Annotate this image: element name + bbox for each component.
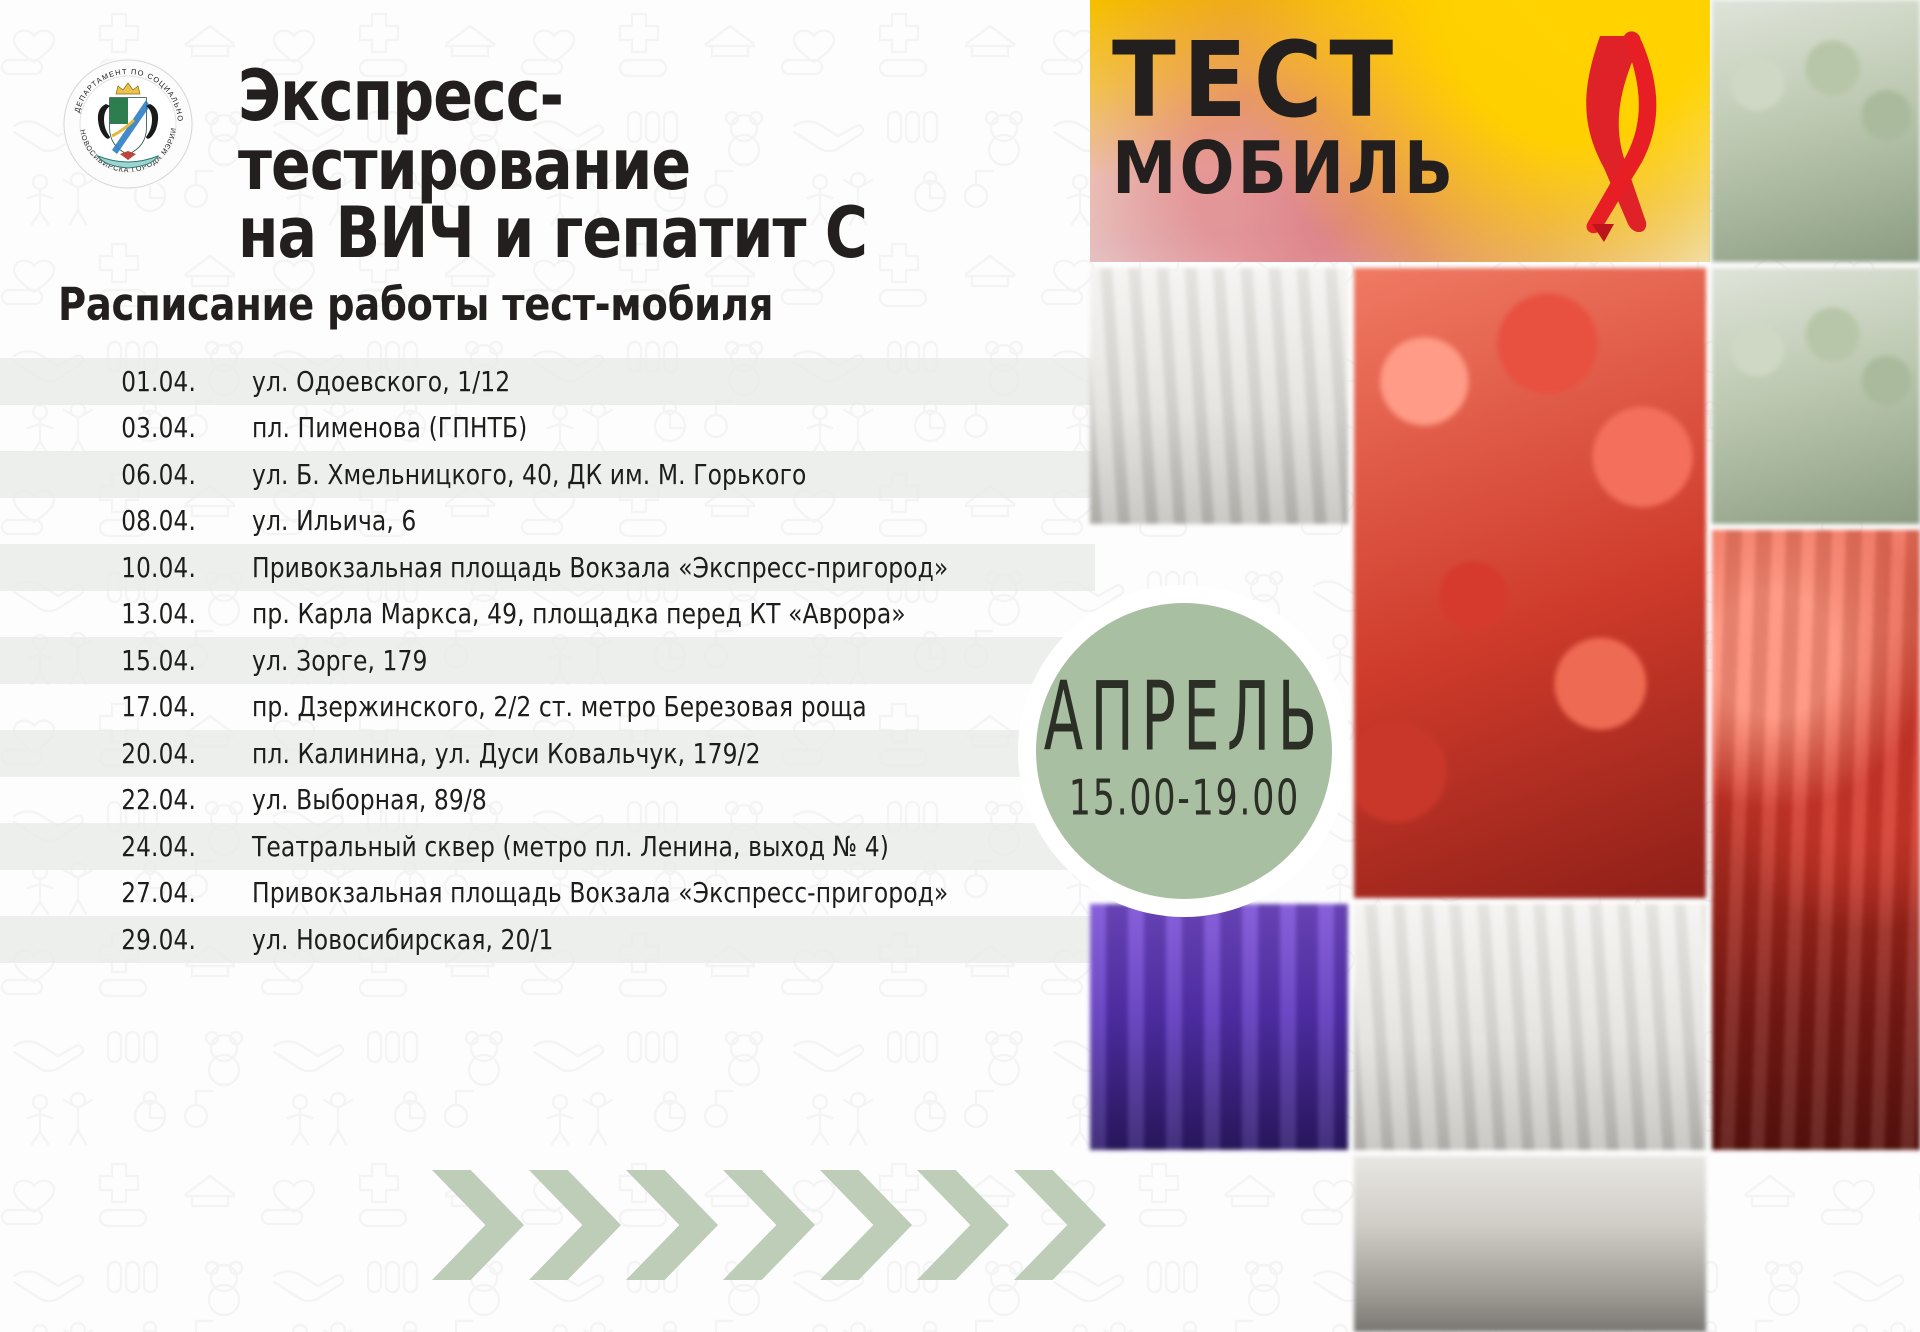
schedule-row: 15.04.ул. Зорге, 179 bbox=[0, 637, 1095, 684]
chevron-icon bbox=[432, 1170, 524, 1280]
title-line-1: Экспресс-тестирование bbox=[238, 55, 690, 206]
schedule-row: 01.04.ул. Одоевского, 1/12 bbox=[0, 358, 1095, 405]
schedule-place: ул. Одоевского, 1/12 bbox=[252, 365, 510, 398]
schedule-place: ул. Ильича, 6 bbox=[252, 504, 416, 537]
photo-tile-tubes-green bbox=[1712, 0, 1920, 262]
schedule-date: 17.04. bbox=[16, 690, 196, 723]
schedule-place: пр. Карла Маркса, 49, площадка перед КТ … bbox=[252, 597, 906, 630]
schedule-date: 10.04. bbox=[16, 551, 196, 584]
photo-tile-lab-white bbox=[1090, 268, 1348, 524]
test-mobile-logo-tile: ТЕСТ МОБИЛЬ bbox=[1090, 0, 1710, 262]
poster-root: ДЕПАРТАМЕНТ ПО СОЦИАЛЬНОЙ НОВОСИБИРСКА Г… bbox=[0, 0, 1920, 1332]
schedule-date: 22.04. bbox=[16, 783, 196, 816]
red-aids-ribbon-icon bbox=[1542, 28, 1692, 243]
photo-tile-blood-tubes-top bbox=[1354, 268, 1706, 898]
schedule-place: ул. Б. Хмельницкого, 40, ДК им. М. Горьк… bbox=[252, 458, 806, 491]
chevron-icon bbox=[529, 1170, 621, 1280]
photo-tile-blood-tubes-right bbox=[1712, 530, 1920, 1150]
schedule-place: Привокзальная площадь Вокзала «Экспресс-… bbox=[252, 876, 948, 909]
schedule-subtitle: Расписание работы тест-мобиля bbox=[58, 278, 773, 331]
schedule-place: пл. Калинина, ул. Дуси Ковальчук, 179/2 bbox=[252, 737, 761, 770]
schedule-row: 20.04.пл. Калинина, ул. Дуси Ковальчук, … bbox=[0, 730, 1095, 777]
emblem-svg: ДЕПАРТАМЕНТ ПО СОЦИАЛЬНОЙ НОВОСИБИРСКА Г… bbox=[62, 58, 194, 190]
schedule-date: 01.04. bbox=[16, 365, 196, 398]
photo-tile-corridor bbox=[1354, 1156, 1706, 1332]
chevron-icon bbox=[917, 1170, 1009, 1280]
schedule-date: 29.04. bbox=[16, 923, 196, 956]
schedule-row: 17.04.пр. Дзержинского, 2/2 ст. метро Бе… bbox=[0, 684, 1095, 731]
chevron-icon bbox=[820, 1170, 912, 1280]
page-title: Экспресс-тестирование на ВИЧ и гепатит С bbox=[238, 62, 945, 268]
month-badge: АПРЕЛЬ 15.00-19.00 bbox=[1018, 585, 1350, 917]
schedule-date: 03.04. bbox=[16, 411, 196, 444]
coat-of-arms-emblem: ДЕПАРТАМЕНТ ПО СОЦИАЛЬНОЙ НОВОСИБИРСКА Г… bbox=[62, 58, 194, 190]
title-line-2: на ВИЧ и гепатит С bbox=[238, 199, 945, 268]
chevron-decoration bbox=[432, 1170, 1112, 1280]
photo-tile-lab-shelf bbox=[1354, 904, 1706, 1150]
schedule-row: 22.04.ул. Выборная, 89/8 bbox=[0, 777, 1095, 824]
schedule-place: ул. Зорге, 179 bbox=[252, 644, 428, 677]
schedule-place: Привокзальная площадь Вокзала «Экспресс-… bbox=[252, 551, 948, 584]
schedule-date: 20.04. bbox=[16, 737, 196, 770]
schedule-place: пр. Дзержинского, 2/2 ст. метро Березова… bbox=[252, 690, 867, 723]
schedule-date: 06.04. bbox=[16, 458, 196, 491]
schedule-row: 08.04.ул. Ильича, 6 bbox=[0, 498, 1095, 545]
schedule-place: ул. Новосибирская, 20/1 bbox=[252, 923, 554, 956]
schedule-row: 03.04.пл. Пименова (ГПНТБ) bbox=[0, 405, 1095, 452]
month-label: АПРЕЛЬ bbox=[1044, 670, 1325, 765]
schedule-row: 13.04.пр. Карла Маркса, 49, площадка пер… bbox=[0, 591, 1095, 638]
time-label: 15.00-19.00 bbox=[1068, 769, 1299, 826]
photo-tile-tubes-green-2 bbox=[1712, 268, 1920, 524]
chevron-icon bbox=[626, 1170, 718, 1280]
left-column: ДЕПАРТАМЕНТ ПО СОЦИАЛЬНОЙ НОВОСИБИРСКА Г… bbox=[0, 0, 1090, 1332]
schedule-table: 01.04.ул. Одоевского, 1/1203.04.пл. Пиме… bbox=[0, 358, 1095, 963]
schedule-row: 06.04.ул. Б. Хмельницкого, 40, ДК им. М.… bbox=[0, 451, 1095, 498]
schedule-place: Театральный сквер (метро пл. Ленина, вых… bbox=[252, 830, 889, 863]
schedule-row: 10.04.Привокзальная площадь Вокзала «Экс… bbox=[0, 544, 1095, 591]
photo-tile-purple-lab bbox=[1090, 904, 1348, 1150]
schedule-date: 24.04. bbox=[16, 830, 196, 863]
schedule-date: 13.04. bbox=[16, 597, 196, 630]
schedule-place: ул. Выборная, 89/8 bbox=[252, 783, 487, 816]
schedule-row: 27.04.Привокзальная площадь Вокзала «Экс… bbox=[0, 870, 1095, 917]
schedule-row: 24.04.Театральный сквер (метро пл. Ленин… bbox=[0, 823, 1095, 870]
schedule-date: 27.04. bbox=[16, 876, 196, 909]
schedule-place: пл. Пименова (ГПНТБ) bbox=[252, 411, 527, 444]
schedule-date: 08.04. bbox=[16, 504, 196, 537]
schedule-row: 29.04.ул. Новосибирская, 20/1 bbox=[0, 916, 1095, 963]
schedule-date: 15.04. bbox=[16, 644, 196, 677]
chevron-icon bbox=[723, 1170, 815, 1280]
